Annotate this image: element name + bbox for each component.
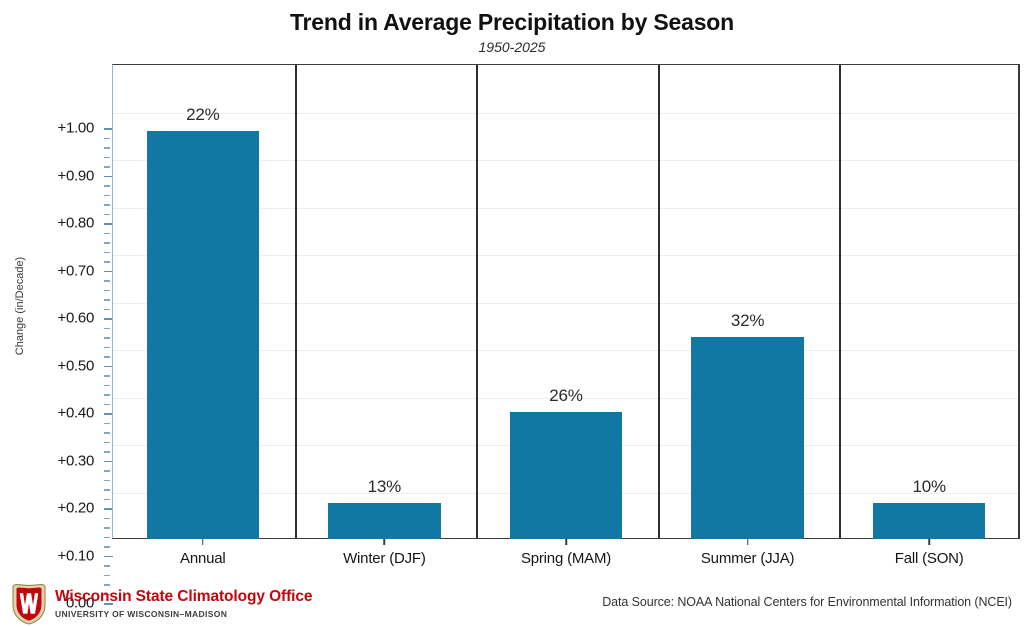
bar[interactable] (328, 503, 441, 539)
y-minor-tick (104, 309, 110, 311)
x-tick (384, 539, 386, 545)
page-title: Trend in Average Precipitation by Season (0, 8, 1024, 36)
category-separator (295, 65, 297, 538)
bar-column: 32% (691, 64, 804, 539)
y-minor-tick (104, 375, 110, 377)
x-tick (928, 539, 930, 545)
y-minor-tick (104, 328, 110, 330)
category-separator (476, 65, 478, 538)
y-axis: Change (in/Decade) +1.00+0.90+0.80+0.70+… (0, 64, 104, 539)
chart-subtitle: 1950-2025 (0, 37, 1024, 57)
y-minor-tick (104, 527, 110, 529)
y-tick-label: +0.90 (58, 167, 94, 184)
category-separator (658, 65, 660, 538)
y-minor-tick (104, 565, 110, 567)
uw-crest-icon (10, 583, 48, 625)
y-tick-label: +0.50 (58, 357, 94, 374)
y-tick-label: +0.80 (58, 215, 94, 232)
y-minor-tick (104, 347, 110, 349)
y-tick-label: +0.60 (58, 310, 94, 327)
chart-title-block: Trend in Average Precipitation by Season… (0, 8, 1024, 57)
y-minor-tick (104, 537, 110, 539)
bar-column: 13% (328, 64, 441, 539)
bar[interactable] (147, 131, 260, 539)
x-tick (747, 539, 749, 545)
brand-title: Wisconsin State Climatology Office (55, 588, 312, 606)
y-minor-tick (104, 518, 110, 520)
bar-value-label: 13% (328, 477, 441, 497)
y-minor-tick (104, 480, 110, 482)
y-tick-label: +0.70 (58, 262, 94, 279)
y-minor-tick (104, 157, 110, 159)
y-minor-tick (104, 423, 110, 425)
y-minor-tick (104, 432, 110, 434)
bar-value-label: 22% (147, 105, 260, 125)
y-minor-tick (104, 299, 110, 301)
y-minor-tick (104, 470, 110, 472)
data-source-note: Data Source: NOAA National Centers for E… (602, 595, 1012, 609)
x-tick (565, 539, 567, 545)
y-tick-label: +0.10 (58, 547, 94, 564)
y-minor-tick (104, 337, 110, 339)
y-minor-tick (104, 204, 110, 206)
y-minor-tick (104, 442, 110, 444)
y-tick-label: +1.00 (58, 120, 94, 137)
bar-column: 10% (873, 64, 986, 539)
bar[interactable] (510, 412, 623, 539)
y-minor-tick (104, 385, 110, 387)
y-minor-tick (104, 356, 110, 358)
y-minor-tick (104, 451, 110, 453)
y-tick-label: +0.30 (58, 452, 94, 469)
y-minor-tick (104, 280, 110, 282)
brand-subtitle: UNIVERSITY OF WISCONSIN–MADISON (55, 608, 312, 620)
y-minor-tick (104, 261, 110, 263)
y-tick-label: +0.40 (58, 405, 94, 422)
y-minor-tick (104, 185, 110, 187)
y-minor-tick (104, 290, 110, 292)
y-axis-title: Change (in/Decade) (14, 226, 26, 386)
bar-value-label: 10% (873, 477, 986, 497)
y-minor-tick (104, 147, 110, 149)
x-tick-label: Annual (180, 550, 226, 567)
y-minor-tick (104, 233, 110, 235)
y-minor-tick (104, 214, 110, 216)
x-tick-label: Spring (MAM) (521, 550, 611, 567)
y-minor-tick (104, 404, 110, 406)
x-tick-label: Fall (SON) (895, 550, 964, 567)
y-minor-tick (104, 138, 110, 140)
plot-wrapper: 22%13%26%32%10% (112, 64, 1020, 539)
bar[interactable] (691, 337, 804, 539)
y-minor-tick (104, 394, 110, 396)
y-tick-label: +0.20 (58, 500, 94, 517)
bar-column: 22% (147, 64, 260, 539)
y-minor-tick (104, 242, 110, 244)
y-minor-tick (104, 546, 110, 548)
category-separator (839, 65, 841, 538)
x-tick (202, 539, 204, 545)
y-minor-tick (104, 575, 110, 577)
bar-value-label: 32% (691, 311, 804, 331)
footer: Wisconsin State Climatology Office UNIVE… (0, 581, 1024, 627)
bar-column: 26% (510, 64, 623, 539)
y-minor-tick (104, 195, 110, 197)
x-tick-label: Winter (DJF) (343, 550, 426, 567)
x-axis: AnnualWinter (DJF)Spring (MAM)Summer (JJ… (112, 539, 1020, 575)
y-minor-tick (104, 252, 110, 254)
bar-value-label: 26% (510, 386, 623, 406)
y-minor-tick (104, 499, 110, 501)
y-minor-tick (104, 166, 110, 168)
bar[interactable] (873, 503, 986, 539)
brand-lockup: Wisconsin State Climatology Office UNIVE… (10, 581, 312, 627)
y-minor-tick (104, 489, 110, 491)
x-tick-label: Summer (JJA) (701, 550, 794, 567)
brand-text: Wisconsin State Climatology Office UNIVE… (55, 588, 312, 620)
